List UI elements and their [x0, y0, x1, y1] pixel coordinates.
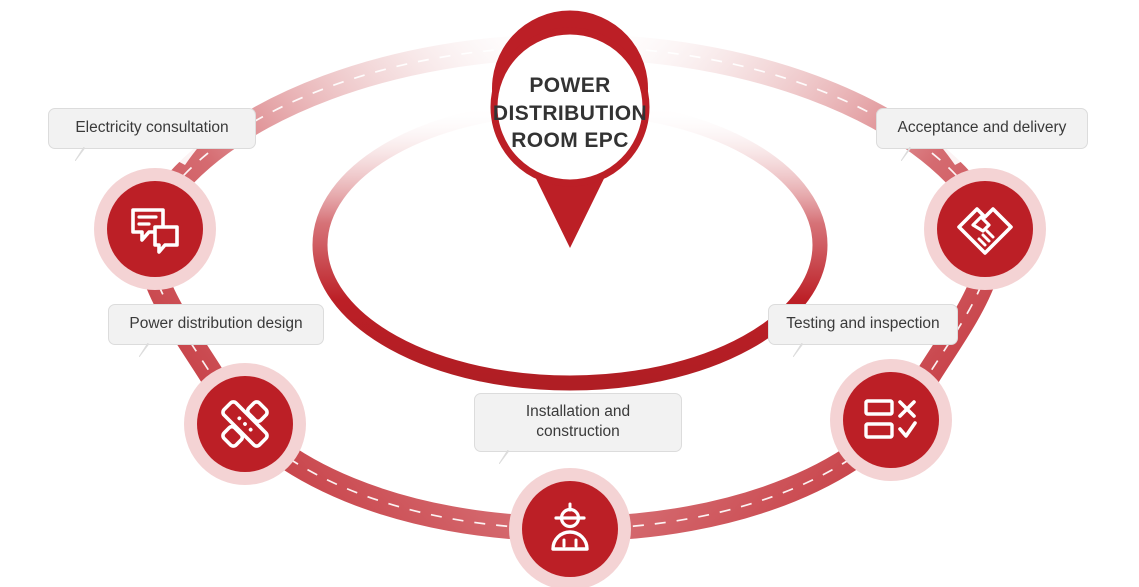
- step-label-line-2: construction: [491, 422, 665, 442]
- node-circle-step-3: [522, 481, 618, 577]
- step-label-text: Power distribution design: [129, 315, 302, 332]
- step-label-text: Testing and inspection: [786, 315, 939, 332]
- step-label-text: Acceptance and delivery: [898, 119, 1067, 136]
- node-circle-step-4: [843, 372, 939, 468]
- center-pin-circle: [494, 31, 646, 183]
- center-pin: [492, 11, 648, 248]
- step-label-electricity-consultation[interactable]: Electricity consultation: [48, 108, 256, 149]
- diagram-canvas: POWER DISTRIBUTION ROOM EPC Electricity …: [0, 0, 1139, 587]
- step-label-installation-and-construction[interactable]: Installation and construction: [474, 393, 682, 452]
- process-cycle-graphic: [0, 0, 1139, 587]
- step-label-acceptance-and-delivery[interactable]: Acceptance and delivery: [876, 108, 1088, 149]
- step-label-testing-and-inspection[interactable]: Testing and inspection: [768, 304, 958, 345]
- step-label-line-1: Installation and: [491, 402, 665, 422]
- step-label-power-distribution-design[interactable]: Power distribution design: [108, 304, 324, 345]
- step-label-text: Electricity consultation: [75, 119, 228, 136]
